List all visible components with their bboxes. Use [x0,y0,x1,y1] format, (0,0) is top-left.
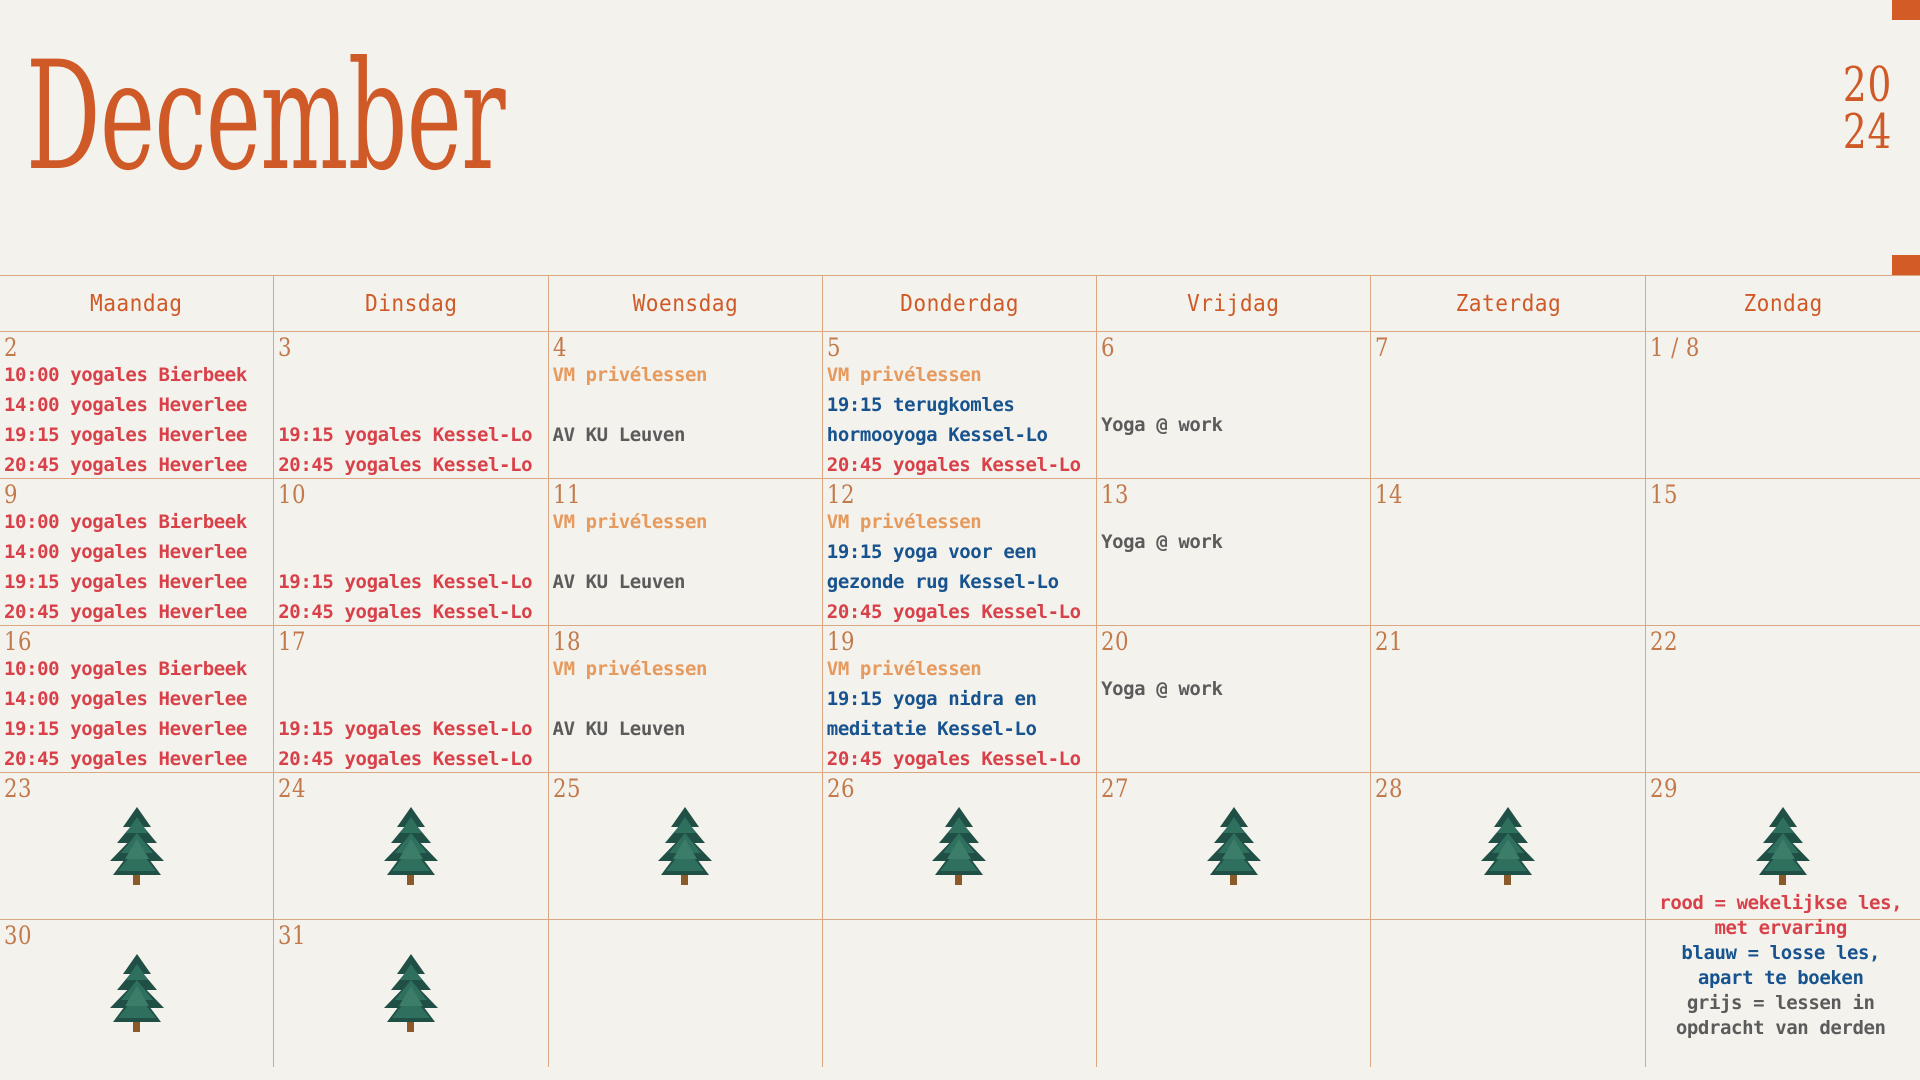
day-cell[interactable] [549,920,823,1067]
evergreen-tree-icon [375,950,447,1036]
day-number: 5 [827,334,1056,361]
day-cell[interactable]: 21 [1371,626,1645,773]
day-number: 18 [553,628,782,655]
day-number: 15 [1650,481,1880,508]
day-events: VM privélessen19:15 terugkomleshormooyog… [827,360,1096,480]
tree-decoration [1097,803,1370,889]
weekday-header-cell: Donderdag [823,276,1097,332]
day-cell[interactable]: 5VM privélessen19:15 terugkomleshormooyo… [823,332,1097,479]
accent-block-middle [1892,255,1920,275]
event-entry[interactable]: 10:00 yogales Bierbeek [4,654,273,684]
day-number: 27 [1101,775,1330,802]
weekday-header-cell: Zondag [1646,276,1920,332]
event-entry[interactable]: 20:45 yogales Kessel-Lo [827,597,1096,627]
day-number: 21 [1375,628,1604,655]
day-events: VM privélessen AV KU Leuven [553,507,822,597]
calendar-week-row: 1610:00 yogales Bierbeek14:00 yogales He… [0,626,1920,773]
tree-decoration [274,950,547,1036]
calendar-week-rows: 210:00 yogales Bierbeek14:00 yogales Hev… [0,332,1920,1067]
event-entry[interactable]: 20:45 yogales Kessel-Lo [827,450,1096,480]
event-entry[interactable]: 20:45 yogales Heverlee [4,744,273,774]
day-cell[interactable]: 11VM privélessen AV KU Leuven [549,479,823,626]
calendar-week-row: 210:00 yogales Bierbeek14:00 yogales Hev… [0,332,1920,479]
day-events: VM privélessen AV KU Leuven [553,654,822,744]
day-cell[interactable]: 25 [549,773,823,920]
event-entry[interactable]: VM privélessen [827,507,1096,537]
tree-decoration [0,950,273,1036]
day-number: 24 [278,775,507,802]
day-number: 19 [827,628,1056,655]
weekday-label-woensdag: Woensdag [632,291,738,317]
event-entry[interactable]: gezonde rug Kessel-Lo [827,567,1096,597]
event-entry[interactable]: 10:00 yogales Bierbeek [4,360,273,390]
evergreen-tree-icon [1198,803,1270,889]
day-number: 14 [1375,481,1604,508]
day-cell[interactable]: 210:00 yogales Bierbeek14:00 yogales Hev… [0,332,274,479]
weekday-label-dinsdag: Dinsdag [365,291,457,317]
day-number: 12 [827,481,1056,508]
weekday-header-cell: Zaterdag [1371,276,1645,332]
day-cell[interactable]: 13Yoga @ work [1097,479,1371,626]
day-cell[interactable]: 3 19:15 yogales Kessel-Lo20:45 yogales K… [274,332,548,479]
weekday-header-cell: Woensdag [549,276,823,332]
event-entry[interactable]: 19:15 yogales Kessel-Lo [278,420,547,450]
day-events: 10:00 yogales Bierbeek14:00 yogales Heve… [4,507,273,627]
legend-line: rood = wekelijkse les, [1646,891,1916,916]
day-events: Yoga @ work [1101,527,1370,557]
day-cell[interactable]: 910:00 yogales Bierbeek14:00 yogales Hev… [0,479,274,626]
day-cell[interactable]: 1 / 8 [1646,332,1920,479]
event-entry[interactable]: Yoga @ work [1101,674,1370,704]
evergreen-tree-icon [1747,803,1819,889]
tree-decoration [0,803,273,889]
event-entry[interactable]: AV KU Leuven [553,567,822,597]
day-number: 20 [1101,628,1330,655]
day-cell[interactable]: 15 [1646,479,1920,626]
weekday-label-maandag: Maandag [90,291,182,317]
day-number: 13 [1101,481,1330,508]
day-cell[interactable]: 29 rood = wekelijkse les,met ervaringbla… [1646,773,1920,920]
day-number: 2 [4,334,233,361]
day-events: 19:15 yogales Kessel-Lo20:45 yogales Kes… [278,507,547,627]
weekday-header-cell: Maandag [0,276,274,332]
year-label: 20 24 [1843,62,1892,156]
event-entry[interactable]: 10:00 yogales Bierbeek [4,507,273,537]
tree-decoration [1371,803,1644,889]
event-entry[interactable]: AV KU Leuven [553,420,822,450]
event-entry[interactable]: hormooyoga Kessel-Lo [827,420,1096,450]
event-entry[interactable]: 20:45 yogales Kessel-Lo [278,450,547,480]
event-entry[interactable]: 20:45 yogales Heverlee [4,450,273,480]
year-bottom: 24 [1843,109,1892,156]
event-entry[interactable]: 14:00 yogales Heverlee [4,684,273,714]
event-entry[interactable]: 20:45 yogales Kessel-Lo [827,744,1096,774]
tree-decoration [274,803,547,889]
day-events: VM privélessen AV KU Leuven [553,360,822,450]
event-entry[interactable]: 19:15 yogales Heverlee [4,714,273,744]
day-number: 23 [4,775,233,802]
day-number: 6 [1101,334,1330,361]
evergreen-tree-icon [1472,803,1544,889]
day-number: 30 [4,922,233,949]
day-number: 28 [1375,775,1604,802]
day-number: 17 [278,628,507,655]
event-entry[interactable]: 19:15 terugkomles [827,390,1096,420]
evergreen-tree-icon [375,803,447,889]
day-cell[interactable]: 22 [1646,626,1920,773]
day-cell[interactable]: 4VM privélessen AV KU Leuven [549,332,823,479]
calendar-header: December 20 24 [0,0,1920,258]
evergreen-tree-icon [101,803,173,889]
day-cell[interactable]: 20Yoga @ work [1097,626,1371,773]
calendar-week-row: 23 24 25 26 [0,773,1920,920]
weekday-label-zondag: Zondag [1743,291,1822,317]
day-number: 7 [1375,334,1604,361]
day-number: 22 [1650,628,1880,655]
calendar-week-row: 30 31 [0,920,1920,1067]
event-entry[interactable]: meditatie Kessel-Lo [827,714,1096,744]
event-entry[interactable]: 20:45 yogales Heverlee [4,597,273,627]
day-cell[interactable]: 28 [1371,773,1645,920]
day-number: 26 [827,775,1056,802]
event-entry[interactable]: VM privélessen [827,654,1096,684]
day-number: 10 [278,481,507,508]
day-events: 19:15 yogales Kessel-Lo20:45 yogales Kes… [278,360,547,480]
event-entry[interactable]: 19:15 yogales Heverlee [4,567,273,597]
day-cell[interactable] [823,920,1097,1067]
day-events: 19:15 yogales Kessel-Lo20:45 yogales Kes… [278,654,547,774]
day-cell[interactable]: 26 [823,773,1097,920]
day-cell[interactable]: 23 [0,773,274,920]
tree-decoration [1646,803,1920,889]
day-cell[interactable] [1371,920,1645,1067]
event-entry[interactable]: Yoga @ work [1101,527,1370,557]
weekday-label-donderdag: Donderdag [900,291,1019,317]
event-entry[interactable]: VM privélessen [553,507,822,537]
day-cell[interactable]: 27 [1097,773,1371,920]
event-entry[interactable]: Yoga @ work [1101,410,1370,440]
day-number: 11 [553,481,782,508]
day-cell[interactable]: 24 [274,773,548,920]
weekday-header-cell: Dinsdag [274,276,548,332]
day-number: 31 [278,922,507,949]
weekday-label-zaterdag: Zaterdag [1455,291,1561,317]
event-entry[interactable]: 19:15 yogales Heverlee [4,420,273,450]
event-entry[interactable]: 20:45 yogales Kessel-Lo [278,597,547,627]
weekday-label-vrijdag: Vrijdag [1187,291,1279,317]
day-cell[interactable] [1097,920,1371,1067]
day-events: VM privélessen19:15 yoga voor eengezonde… [827,507,1096,627]
calendar-grid: MaandagDinsdagWoensdagDonderdagVrijdagZa… [0,275,1920,1067]
day-number: 29 [1650,775,1880,802]
day-cell[interactable]: 14 [1371,479,1645,626]
day-cell[interactable]: 6 Yoga @ work [1097,332,1371,479]
year-top: 20 [1843,62,1892,109]
calendar-week-row: 910:00 yogales Bierbeek14:00 yogales Hev… [0,479,1920,626]
day-events: Yoga @ work [1101,360,1370,440]
event-entry[interactable]: 20:45 yogales Kessel-Lo [278,744,547,774]
day-cell[interactable]: 30 [0,920,274,1067]
day-number: 9 [4,481,233,508]
accent-block-top [1892,0,1920,20]
evergreen-tree-icon [923,803,995,889]
evergreen-tree-icon [101,950,173,1036]
day-cell[interactable]: 17 19:15 yogales Kessel-Lo20:45 yogales … [274,626,548,773]
event-entry[interactable]: VM privélessen [827,360,1096,390]
event-entry[interactable]: AV KU Leuven [553,714,822,744]
event-entry[interactable]: 19:15 yoga nidra en [827,684,1096,714]
day-events: Yoga @ work [1101,674,1370,704]
day-number: 16 [4,628,233,655]
day-cell[interactable]: 10 19:15 yogales Kessel-Lo20:45 yogales … [274,479,548,626]
event-entry[interactable]: 19:15 yoga voor een [827,537,1096,567]
tree-decoration [549,803,822,889]
day-cell[interactable]: 19VM privélessen19:15 yoga nidra enmedit… [823,626,1097,773]
weekday-header-cell: Vrijdag [1097,276,1371,332]
day-cell[interactable]: 31 [274,920,548,1067]
day-events: VM privélessen19:15 yoga nidra enmeditat… [827,654,1096,774]
event-entry[interactable]: VM privélessen [553,654,822,684]
day-cell[interactable]: 7 [1371,332,1645,479]
day-cell[interactable] [1646,920,1920,1067]
day-events: 10:00 yogales Bierbeek14:00 yogales Heve… [4,360,273,480]
weekday-header-row: MaandagDinsdagWoensdagDonderdagVrijdagZa… [0,276,1920,332]
day-number: 25 [553,775,782,802]
event-entry[interactable]: 14:00 yogales Heverlee [4,390,273,420]
day-number: 1 / 8 [1650,334,1880,361]
event-entry[interactable]: 19:15 yogales Kessel-Lo [278,567,547,597]
evergreen-tree-icon [649,803,721,889]
page-title: December [26,42,505,192]
day-cell[interactable]: 18VM privélessen AV KU Leuven [549,626,823,773]
event-entry[interactable]: VM privélessen [553,360,822,390]
day-cell[interactable]: 12VM privélessen19:15 yoga voor eengezon… [823,479,1097,626]
day-events: 10:00 yogales Bierbeek14:00 yogales Heve… [4,654,273,774]
event-entry[interactable]: 14:00 yogales Heverlee [4,537,273,567]
day-number: 3 [278,334,507,361]
tree-decoration [823,803,1096,889]
day-cell[interactable]: 1610:00 yogales Bierbeek14:00 yogales He… [0,626,274,773]
event-entry[interactable]: 19:15 yogales Kessel-Lo [278,714,547,744]
day-number: 4 [553,334,782,361]
